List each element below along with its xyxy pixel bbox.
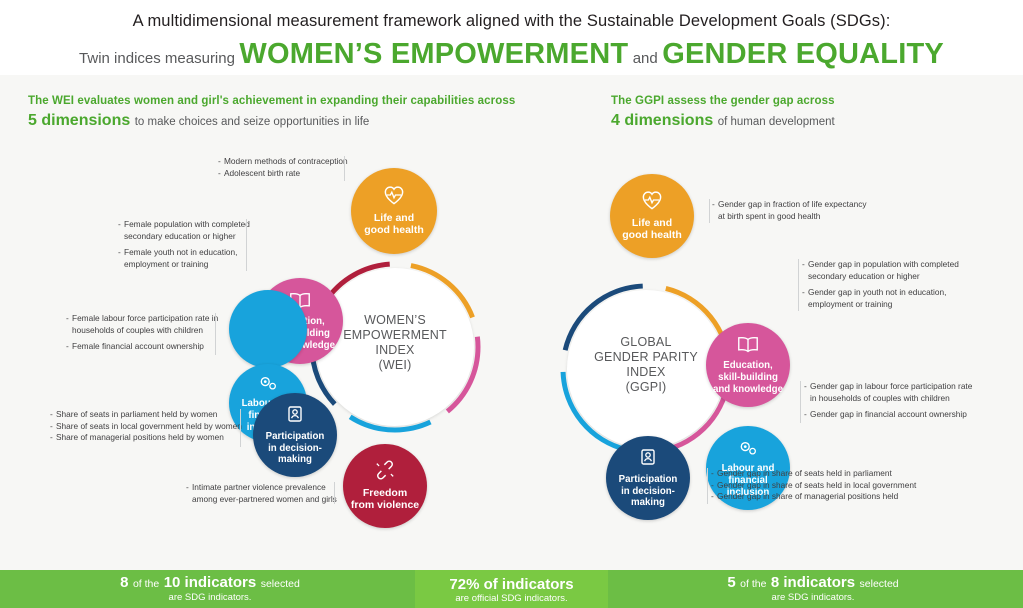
header: A multidimensional measurement framework… bbox=[0, 0, 1023, 75]
ggpi-center-line1: GLOBAL bbox=[577, 335, 715, 350]
wei-bubble-freedom-from-violence[interactable]: Freedom from violence bbox=[343, 444, 427, 528]
ggpi-note-1-line1: -Gender gap in fraction of life expectan… bbox=[712, 199, 867, 211]
ggpi-note-participation: -Gender gap in share of seats held in pa… bbox=[711, 468, 916, 503]
wei-leader-3 bbox=[215, 313, 216, 355]
wei-bubble-5-line1: Freedom bbox=[363, 487, 407, 500]
footer-left-post: selected bbox=[261, 578, 300, 590]
content-panel: The WEI evaluates women and girl's achie… bbox=[0, 75, 1023, 570]
ggpi-dimension-count: 4 dimensions bbox=[611, 112, 713, 129]
wei-center-line1: WOMEN’S bbox=[326, 313, 464, 328]
wei-leader-4 bbox=[240, 409, 241, 447]
wei-note-participation: -Share of seats in parliament held by wo… bbox=[50, 409, 242, 444]
ggpi-subheading-rest: of human development bbox=[718, 116, 835, 128]
wei-note-violence: -Intimate partner violence prevalence am… bbox=[186, 482, 337, 505]
wei-subheading-rest: to make choices and seize opportunities … bbox=[135, 116, 370, 128]
footer-right-mid: of the bbox=[740, 578, 766, 590]
wei-note-labour: -Female labour force participation rate … bbox=[66, 313, 218, 353]
ggpi-note-4-line1: -Gender gap in share of seats held in pa… bbox=[711, 468, 916, 480]
wei-note-5-line2: among ever-partnered women and girls bbox=[186, 494, 337, 506]
footer-center-headline: 72% of indicators bbox=[415, 578, 608, 592]
ggpi-subheading-line2: 4 dimensions of human development bbox=[611, 112, 835, 130]
person-document-icon bbox=[638, 447, 658, 471]
ggpi-note-life-health: -Gender gap in fraction of life expectan… bbox=[712, 199, 867, 222]
ggpi-note-2-line4: employment or training bbox=[802, 299, 959, 311]
wei-bubble-1-line1: Life and bbox=[374, 212, 414, 225]
wei-bubble-1-line2: good health bbox=[364, 224, 424, 237]
ggpi-note-3-line3: -Gender gap in financial account ownersh… bbox=[804, 409, 972, 421]
ggpi-note-3-line1: -Gender gap in labour force participatio… bbox=[804, 381, 972, 393]
ggpi-leader-4 bbox=[707, 468, 708, 504]
wei-note-1-line1: -Modern methods of contraception bbox=[218, 156, 348, 168]
wei-note-4-line1: -Share of seats in parliament held by wo… bbox=[50, 409, 242, 421]
ggpi-center-label: GLOBAL GENDER PARITY INDEX (GGPI) bbox=[577, 335, 715, 395]
footer-right-pre: 5 bbox=[727, 574, 735, 591]
ggpi-bubble-4-line2: in decision- bbox=[621, 486, 675, 498]
wei-note-2-line3: -Female youth not in education, bbox=[118, 247, 250, 259]
wei-note-3-line3: -Female financial account ownership bbox=[66, 341, 218, 353]
person-document-icon bbox=[285, 404, 305, 428]
header-twin-label: Twin indices measuring bbox=[79, 50, 235, 67]
footer: 8 of the 10 indicators selected are SDG … bbox=[0, 570, 1023, 608]
heart-pulse-icon bbox=[641, 190, 663, 214]
footer-left-headline: 8 of the 10 indicators selected bbox=[60, 576, 360, 591]
gears-icon bbox=[257, 373, 279, 396]
ggpi-note-4-line2: -Gender gap in share of seats held in lo… bbox=[711, 480, 916, 492]
wei-note-1-line2: -Adolescent birth rate bbox=[218, 168, 348, 180]
footer-left-text: 8 of the 10 indicators selected are SDG … bbox=[60, 576, 360, 605]
ggpi-note-2-line1: -Gender gap in population with completed bbox=[802, 259, 959, 271]
wei-bubble-4-line1: Participation bbox=[266, 431, 325, 443]
header-ggpi-title: GENDER EQUALITY bbox=[662, 38, 944, 70]
ggpi-bubble-1-line2: good health bbox=[622, 229, 682, 242]
footer-left-pre: 8 bbox=[120, 574, 128, 591]
wei-note-5-line1: -Intimate partner violence prevalence bbox=[186, 482, 337, 494]
wei-note-4-line3: -Share of managerial positions held by w… bbox=[50, 432, 242, 444]
ggpi-bubble-4-line3: making bbox=[631, 497, 665, 509]
wei-note-2-line2: secondary education or higher bbox=[118, 231, 250, 243]
wei-bubble-4-line2: in decision- bbox=[268, 443, 322, 455]
footer-left-num: 10 indicators bbox=[164, 574, 257, 591]
ggpi-note-2-line2: secondary education or higher bbox=[802, 271, 959, 283]
ggpi-note-2-line3: -Gender gap in youth not in education, bbox=[802, 287, 959, 299]
footer-left-sub: are SDG indicators. bbox=[60, 591, 360, 605]
gears-icon bbox=[737, 438, 759, 461]
footer-center-num: 72% of indicators bbox=[449, 576, 573, 593]
header-and-label: and bbox=[633, 50, 658, 67]
wei-bubble-participation[interactable]: Participation in decision- making bbox=[253, 393, 337, 477]
wei-note-3-line2: households of couples with children bbox=[66, 325, 218, 337]
wei-note-2-line1: -Female population with completed bbox=[118, 219, 250, 231]
open-book-icon bbox=[736, 335, 760, 358]
wei-center-label: WOMEN’S EMPOWERMENT INDEX (WEI) bbox=[326, 313, 464, 373]
wei-center-line4: (WEI) bbox=[326, 358, 464, 373]
wei-note-2-line4: employment or training bbox=[118, 259, 250, 271]
ggpi-leader-3 bbox=[800, 381, 801, 423]
ggpi-center-line3: INDEX bbox=[577, 365, 715, 380]
footer-right-sub: are SDG indicators. bbox=[663, 591, 963, 605]
ggpi-center-line4: (GGPI) bbox=[577, 380, 715, 395]
wei-note-education: -Female population with completed second… bbox=[118, 219, 250, 270]
ggpi-note-4-line3: -Gender gap in share of managerial posit… bbox=[711, 491, 916, 503]
ggpi-bubble-life-and-good-health[interactable]: Life and good health bbox=[610, 174, 694, 258]
ggpi-bubble-2-line2: skill-building bbox=[718, 372, 778, 384]
wei-subheading: The WEI evaluates women and girl's achie… bbox=[28, 95, 515, 130]
ggpi-note-labour: -Gender gap in labour force participatio… bbox=[804, 381, 972, 421]
ggpi-bubble-participation[interactable]: Participation in decision- making bbox=[606, 436, 690, 520]
footer-right-post: selected bbox=[860, 578, 899, 590]
ggpi-note-education: -Gender gap in population with completed… bbox=[802, 259, 959, 310]
wei-center-line2: EMPOWERMENT bbox=[326, 328, 464, 343]
wei-note-3-line1: -Female labour force participation rate … bbox=[66, 313, 218, 325]
broken-chain-icon bbox=[374, 460, 396, 484]
footer-center-text: 72% of indicators are official SDG indic… bbox=[415, 578, 608, 606]
ggpi-subheading: The GGPI assess the gender gap across 4 … bbox=[611, 95, 835, 130]
ggpi-leader-2 bbox=[798, 259, 799, 311]
heart-pulse-icon bbox=[383, 185, 405, 209]
footer-center-sub: are official SDG indicators. bbox=[415, 592, 608, 606]
infographic-root: A multidimensional measurement framework… bbox=[0, 0, 1023, 608]
ggpi-note-1-line2: at birth spent in good health bbox=[712, 211, 867, 223]
wei-leader-2 bbox=[246, 219, 247, 271]
footer-right-text: 5 of the 8 indicators selected are SDG i… bbox=[663, 576, 963, 605]
wei-bubble-labour-placeholder bbox=[229, 290, 307, 368]
ggpi-subheading-line1: The GGPI assess the gender gap across bbox=[611, 95, 835, 107]
wei-bubble-life-and-good-health[interactable]: Life and good health bbox=[351, 168, 437, 254]
footer-right-headline: 5 of the 8 indicators selected bbox=[663, 576, 963, 591]
wei-bubble-4-line3: making bbox=[278, 454, 312, 466]
footer-right-num: 8 indicators bbox=[771, 574, 855, 591]
ggpi-bubble-4-line1: Participation bbox=[619, 474, 678, 486]
wei-center-line3: INDEX bbox=[326, 343, 464, 358]
ggpi-bubble-2-line1: Education, bbox=[723, 360, 773, 372]
ggpi-bubble-1-line1: Life and bbox=[632, 217, 672, 230]
ggpi-bubble-2-line3: and knowledge bbox=[713, 384, 783, 396]
header-wei-title: WOMEN’S EMPOWERMENT bbox=[239, 38, 628, 70]
wei-bubble-5-line2: from violence bbox=[351, 499, 419, 512]
wei-subheading-line1: The WEI evaluates women and girl's achie… bbox=[28, 95, 515, 107]
wei-leader-1 bbox=[344, 156, 345, 181]
ggpi-center-line2: GENDER PARITY bbox=[577, 350, 715, 365]
wei-note-4-line2: -Share of seats in local government held… bbox=[50, 421, 242, 433]
wei-subheading-line2: 5 dimensions to make choices and seize o… bbox=[28, 112, 515, 130]
header-title: Twin indices measuring WOMEN’S EMPOWERME… bbox=[0, 38, 1023, 71]
wei-leader-5 bbox=[334, 482, 335, 504]
ggpi-leader-1 bbox=[709, 199, 710, 223]
wei-dimension-count: 5 dimensions bbox=[28, 112, 130, 129]
wei-note-life-health: -Modern methods of contraception -Adoles… bbox=[218, 156, 348, 179]
ggpi-note-3-line2: in households of couples with children bbox=[804, 393, 972, 405]
footer-left-mid: of the bbox=[133, 578, 159, 590]
ggpi-bubble-education[interactable]: Education, skill-building and knowledge bbox=[706, 323, 790, 407]
header-subtitle: A multidimensional measurement framework… bbox=[0, 0, 1023, 31]
